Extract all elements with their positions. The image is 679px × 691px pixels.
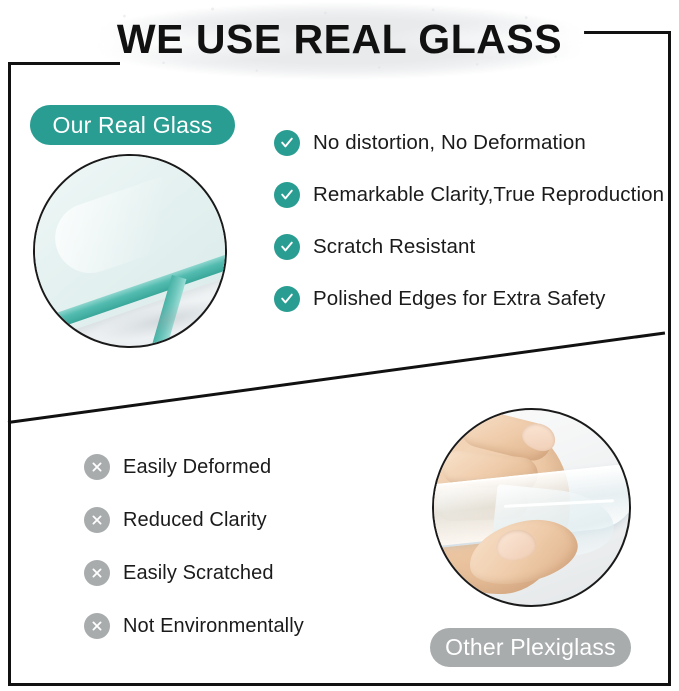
list-item: Remarkable Clarity,True Reproduction [274,180,664,210]
check-circle-icon [274,234,300,260]
frame-border-left [8,62,11,686]
list-item-label: Remarkable Clarity,True Reproduction [313,183,664,207]
x-circle-icon [84,454,110,480]
list-item: No distortion, No Deformation [274,128,664,158]
list-item: Polished Edges for Extra Safety [274,284,664,314]
list-item: Reduced Clarity [84,505,304,535]
list-item: Scratch Resistant [274,232,664,262]
real-glass-photo [33,154,227,348]
badge-other-plexiglass: Other Plexiglass [430,628,631,667]
x-circle-icon [84,613,110,639]
plexiglass-photo [432,408,631,607]
list-item: Easily Scratched [84,558,304,588]
list-item-label: Easily Deformed [123,456,271,479]
badge-our-real-glass-label: Our Real Glass [52,112,212,139]
real-glass-feature-list: No distortion, No Deformation Remarkable… [274,128,664,336]
check-circle-icon [274,182,300,208]
check-circle-icon [274,130,300,156]
badge-other-plexiglass-label: Other Plexiglass [445,634,616,661]
page-title: WE USE REAL GLASS [0,13,679,65]
comparison-infographic: WE USE REAL GLASS Our Real Glass No dist… [0,0,679,691]
x-circle-icon [84,560,110,586]
frame-border-bottom [8,683,671,686]
list-item: Not Environmentally [84,611,304,641]
x-circle-icon [84,507,110,533]
frame-border-right [668,31,671,686]
list-item-label: Polished Edges for Extra Safety [313,287,606,311]
list-item-label: Not Environmentally [123,615,304,638]
badge-our-real-glass: Our Real Glass [30,105,235,145]
check-circle-icon [274,286,300,312]
list-item: Easily Deformed [84,452,304,482]
plexiglass-drawback-list: Easily Deformed Reduced Clarity Easily S… [84,452,304,664]
list-item-label: Easily Scratched [123,562,274,585]
list-item-label: Scratch Resistant [313,235,475,259]
list-item-label: No distortion, No Deformation [313,131,586,155]
list-item-label: Reduced Clarity [123,509,267,532]
